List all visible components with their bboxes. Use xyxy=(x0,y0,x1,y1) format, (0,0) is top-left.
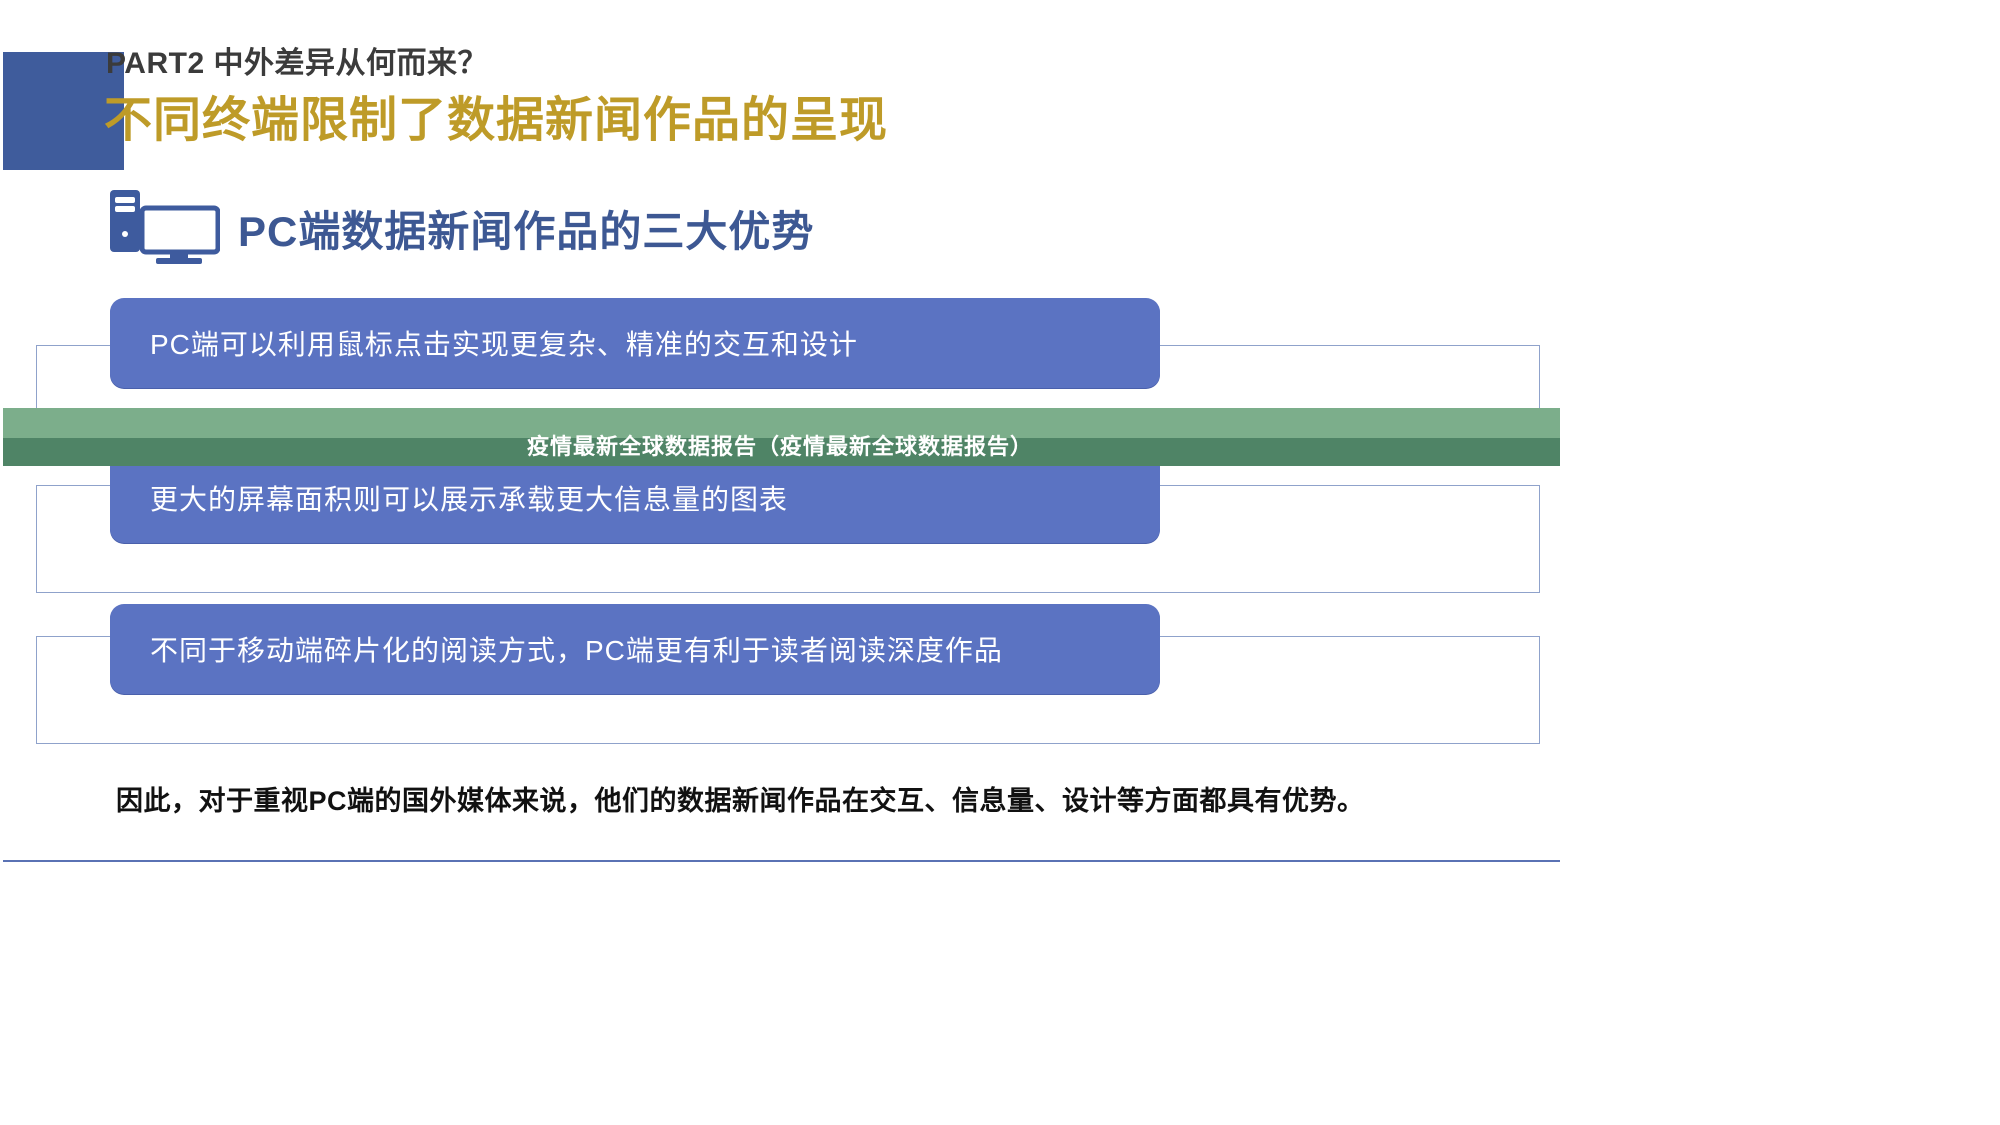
advantage-text-3: 不同于移动端碎片化的阅读方式，PC端更有利于读者阅读深度作品 xyxy=(150,629,1003,669)
footer-note: 因此，对于重视PC端的国外媒体来说，他们的数据新闻作品在交互、信息量、设计等方面… xyxy=(116,779,1365,818)
footer-divider xyxy=(0,860,1560,862)
part-label: PART2 中外差异从何而来？ xyxy=(106,38,488,82)
advantage-pill-3[interactable]: 不同于移动端碎片化的阅读方式，PC端更有利于读者阅读深度作品 xyxy=(110,604,1160,694)
advantage-pill-2[interactable]: 更大的屏幕面积则可以展示承载更大信息量的图表 xyxy=(110,453,1160,543)
page-title: 不同终端限制了数据新闻作品的呈现 xyxy=(104,80,888,150)
slide-canvas: PART2 中外差异从何而来？ 不同终端限制了数据新闻作品的呈现 PC端数据新闻… xyxy=(0,0,2000,1125)
section-heading: PC端数据新闻作品的三大优势 xyxy=(238,198,814,259)
desktop-computer-icon xyxy=(108,188,220,266)
advantage-text-1: PC端可以利用鼠标点击实现更复杂、精准的交互和设计 xyxy=(150,323,858,363)
overlay-banner-text: 疫情最新全球数据报告（疫情最新全球数据报告） xyxy=(0,428,1560,462)
advantage-pill-1[interactable]: PC端可以利用鼠标点击实现更复杂、精准的交互和设计 xyxy=(110,298,1160,388)
advantage-text-2: 更大的屏幕面积则可以展示承载更大信息量的图表 xyxy=(150,478,788,518)
left-edge-strip xyxy=(0,0,3,1125)
